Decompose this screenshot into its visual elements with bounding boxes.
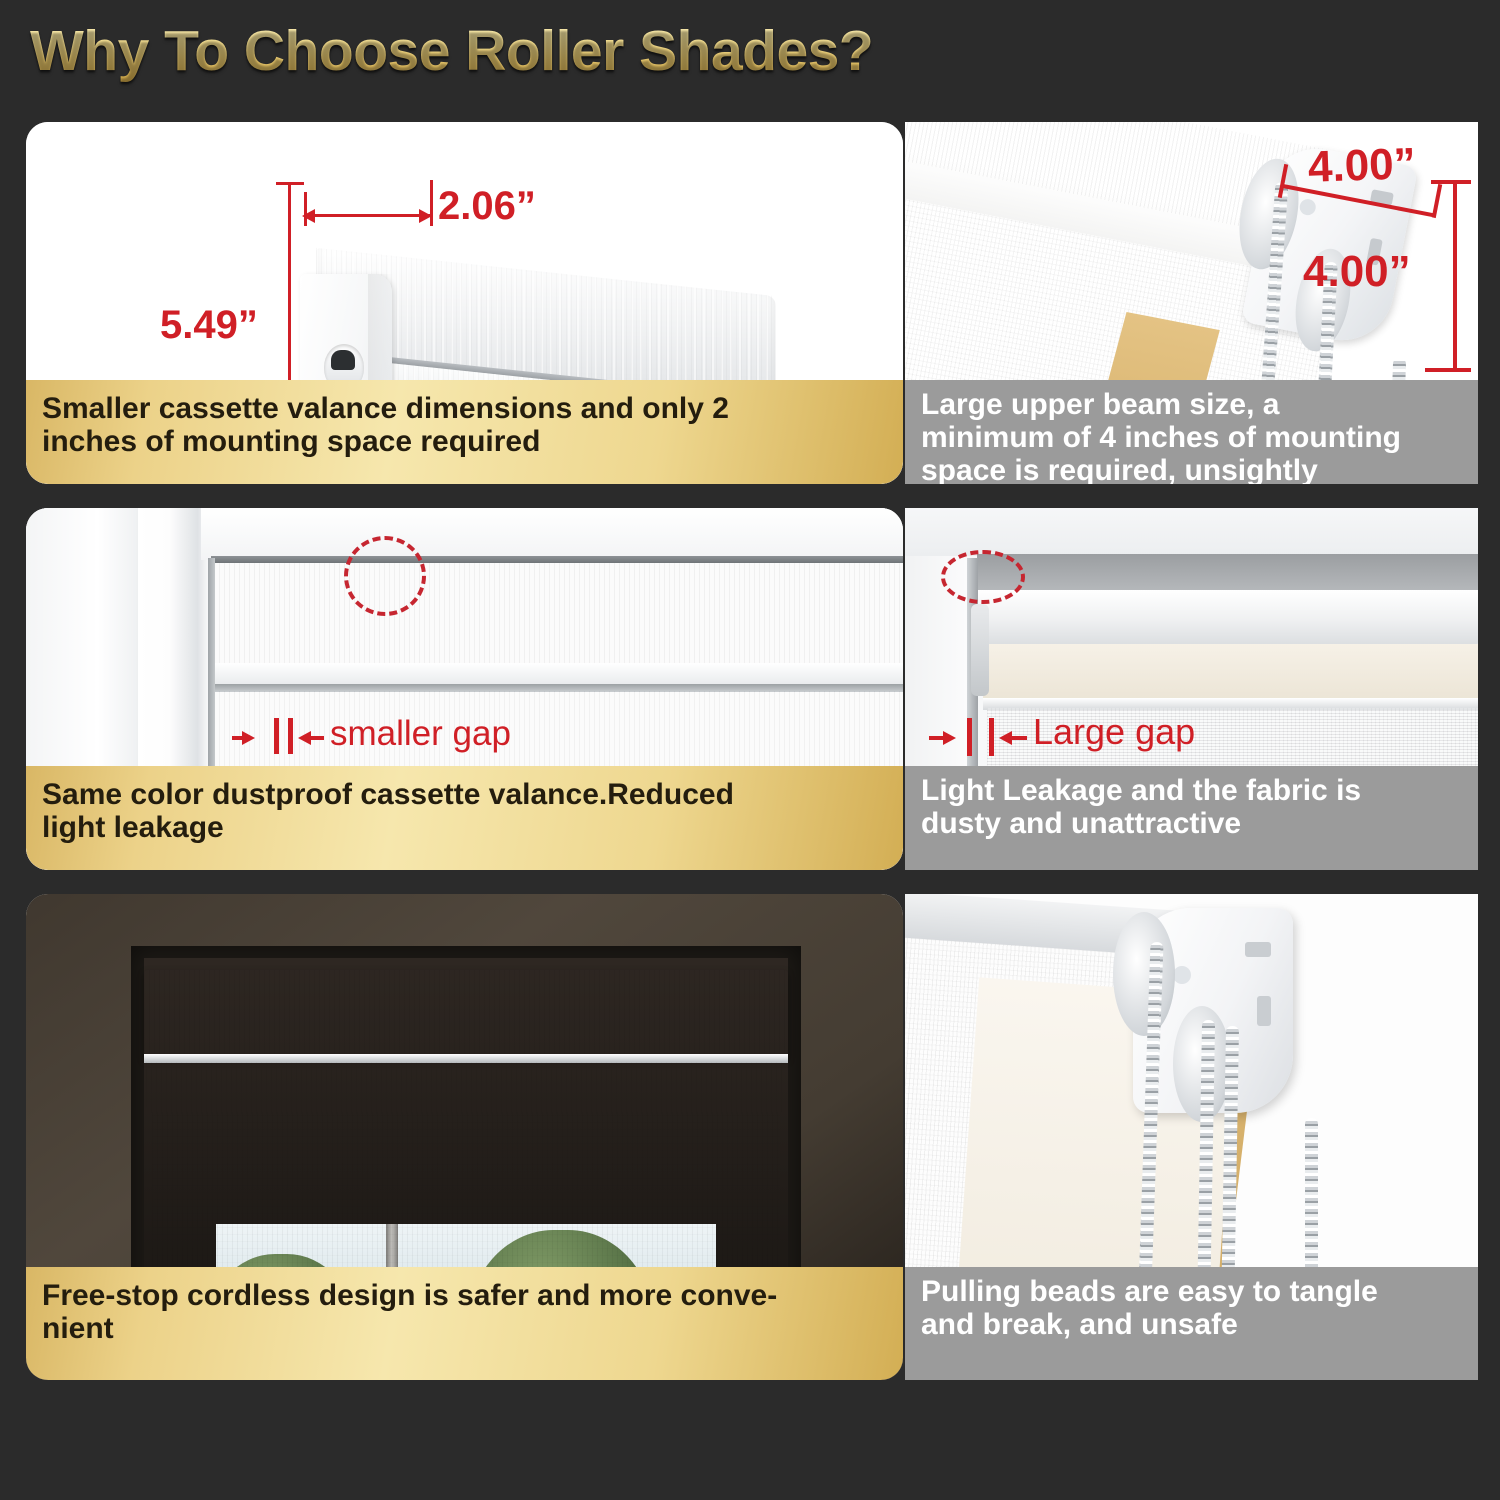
panel-cordless-design: Free-stop cordless design is safer and m… <box>26 894 903 1380</box>
dim-4-side-label: 4.00” <box>1303 250 1411 294</box>
panel-4-caption-line-2: dusty and unattractive <box>921 807 1462 840</box>
fabric-cream-band <box>983 644 1478 700</box>
panel-3-caption-line-2: light leakage <box>42 811 887 844</box>
shadow-band <box>977 554 1478 594</box>
panel-6-caption-line-2: and break, and unsafe <box>921 1308 1462 1341</box>
dim-5-49-cap-top <box>276 182 304 185</box>
dim-4-top-label: 4.00” <box>1307 142 1416 190</box>
gap-label-smaller: smaller gap <box>330 716 511 751</box>
dim-4-side-line <box>1453 180 1457 372</box>
panel-3-caption: Same color dustproof cassette valance.Re… <box>26 766 903 870</box>
frame-head <box>201 508 903 560</box>
dim-2-06-label: 2.06” <box>438 186 536 226</box>
panel-1-caption: Smaller cassette valance dimensions and … <box>26 380 903 484</box>
panel-large-beam: 4.00” 4.00” Large upper beam size, a min… <box>905 122 1478 484</box>
panel-5-caption-line-2: nient <box>42 1312 887 1345</box>
dim-2-06-arrow-right <box>419 209 432 223</box>
page-title: Why To Choose Roller Shades? <box>30 18 873 84</box>
panel-6-caption-line-1: Pulling beads are easy to tangle <box>921 1275 1462 1308</box>
gap-tick-2 <box>288 718 293 754</box>
panel-smaller-cassette: 2.06” 5.49” Smaller cassette valance dim… <box>26 122 903 484</box>
panel-2-caption-line-1: Large upper beam size, a <box>921 388 1462 421</box>
gap-tick-2 <box>989 718 994 756</box>
roller-tube <box>977 590 1478 648</box>
dim-2-06-arrow-left <box>302 209 315 223</box>
panel-pulling-beads: Pulling beads are easy to tangle and bre… <box>905 894 1478 1380</box>
infographic-root: Why To Choose Roller Shades? 2.06” 5.49” <box>0 0 1500 1500</box>
gap-arrow-right-stem <box>310 736 324 740</box>
dim-2-06-line <box>304 214 432 217</box>
panel-3-caption-line-1: Same color dustproof cassette valance.Re… <box>42 778 887 811</box>
gap-tick-1 <box>274 718 279 754</box>
highlight-circle <box>344 536 426 616</box>
panel-1-caption-line-1: Smaller cassette valance dimensions and … <box>42 392 887 425</box>
dim-5-49-label: 5.49” <box>160 305 258 345</box>
ceiling-surface <box>905 508 1478 556</box>
cassette-valance <box>144 970 788 1058</box>
panel-2-caption-line-3: space is required, unsightly <box>921 454 1462 484</box>
cassette-lower <box>146 1062 786 1114</box>
panel-2-caption-line-2: minimum of 4 inches of mounting <box>921 421 1462 454</box>
cassette-top-seam <box>211 556 903 563</box>
panel-smaller-gap: smaller gap Same color dustproof cassett… <box>26 508 903 870</box>
panel-2-caption: Large upper beam size, a minimum of 4 in… <box>905 380 1478 484</box>
chain-wheel-upper <box>1113 912 1175 1036</box>
panel-5-caption-line-1: Free-stop cordless design is safer and m… <box>42 1279 887 1312</box>
highlight-circle <box>941 550 1025 604</box>
dim-4-side-cap-top <box>1431 180 1471 184</box>
panel-1-caption-line-2: inches of mounting space required <box>42 425 887 458</box>
panel-4-caption-line-1: Light Leakage and the fabric is <box>921 774 1462 807</box>
mounting-clip <box>971 604 989 696</box>
gap-arrow-left <box>242 731 255 745</box>
panel-4-caption: Light Leakage and the fabric is dusty an… <box>905 766 1478 870</box>
panel-large-gap: Large gap Light Leakage and the fabric i… <box>905 508 1478 870</box>
panel-6-caption: Pulling beads are easy to tangle and bre… <box>905 1267 1478 1380</box>
fabric-rail <box>214 663 903 685</box>
gap-label-large: Large gap <box>1033 714 1195 750</box>
fabric-band-upper <box>214 563 903 665</box>
gap-arrow-left <box>943 731 956 745</box>
gap-tick-1 <box>967 718 972 756</box>
gap-arrow-right-stem <box>1011 736 1027 740</box>
gap-arrow-right <box>999 731 1012 745</box>
gap-arrow-right <box>298 731 311 745</box>
dim-4-side-cap-bottom <box>1425 368 1471 372</box>
panel-5-caption: Free-stop cordless design is safer and m… <box>26 1267 903 1380</box>
